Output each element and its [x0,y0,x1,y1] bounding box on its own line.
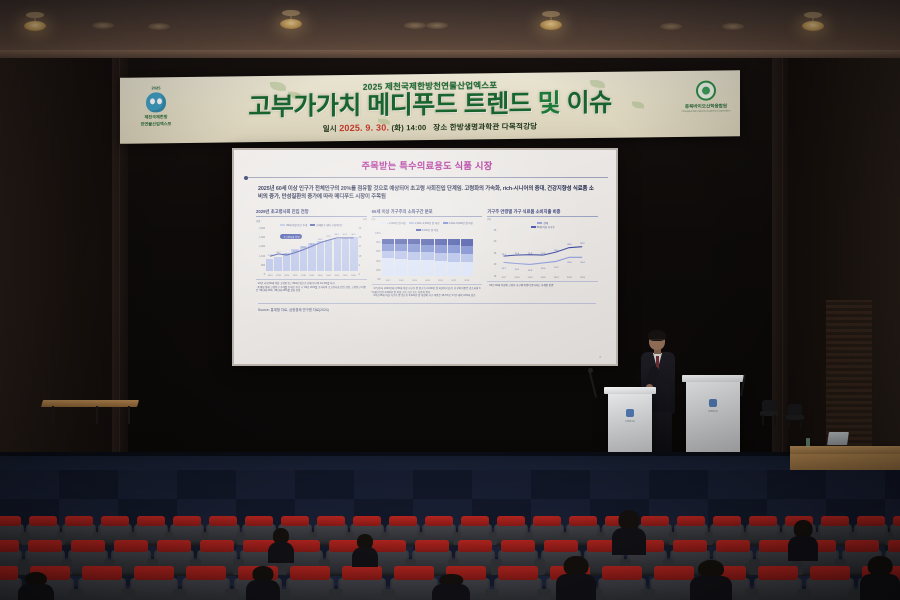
chart-2-ylabel: (%) [372,219,376,221]
banner-title-part1: 고부가가치 메디푸드 트렌드 [248,90,531,121]
x-tick: 2022 [447,280,460,282]
bar-segment [408,244,420,251]
recessed-light [404,22,426,29]
chart-2-note-1: '23년 65세 이상 가구주 중 연소득 5,000만 원 이상의 가구 비중… [373,294,475,297]
bar-segment [382,251,394,258]
stacked-bar [382,239,394,276]
auditorium-seat [806,566,854,600]
audience-member [268,528,294,562]
y-tick: 1,100 [256,256,265,258]
bar-segment [382,244,394,251]
recessed-light [92,22,114,29]
audience-member [432,574,470,600]
bar-segment [448,239,460,246]
y-tick: 20% [372,270,381,272]
x-tick: 2018 [510,277,523,279]
stacked-bar [395,239,407,276]
auditorium-seat [390,566,438,600]
chart-3-yaxis: 35 30 25 20 15 [487,230,496,278]
auditorium-seat [338,566,386,600]
slide-body-text: 2025년 60세 이상 인구가 전체인구의 20%를 점유할 것으로 예상되어… [258,185,596,202]
recessed-light [148,23,170,30]
chart-3-legend-1: 65세 이상 가구주 [537,226,555,229]
recessed-light [426,22,448,29]
place-value: 한방생명과학관 다목적강당 [450,122,537,132]
audience-member [246,566,280,600]
chart-2-yaxis: 100% 80% 60% 40% 20% 0% [372,233,381,281]
x-tick: 2020 [283,275,291,277]
x-tick: 2022 [563,277,576,279]
x-tick: 2030 [299,275,307,277]
y-tick: 100% [372,233,381,235]
y-tick: 40% [372,261,381,263]
y-tick: 30 [487,241,496,243]
chart-2-plot: 100% 80% 60% 40% 20% 0% 2017201820192020… [372,233,483,281]
operator-desk [790,446,900,454]
stage-chair [786,404,804,428]
bar-segment [461,254,473,262]
pendant-light [22,12,48,34]
chart-1-note-0: '24년 국내 60세 이상 고령인구는 994만 명으로 전체 인구의 19.… [258,282,335,285]
x-tick: 2015 [274,275,282,277]
chart-2-xaxis: 2017201820192020202120222023 [382,280,474,282]
left-wall-panel [0,58,120,458]
y2-tick: 27 [359,246,367,248]
x-tick: 2025 [291,275,299,277]
bar-segment [461,246,473,255]
chart-3-lines [497,232,589,273]
slide-title-rule [246,177,608,178]
date-value: 2025. 9. 30. [339,122,389,133]
bar-segment [395,259,407,276]
x-tick: 2023 [576,277,589,279]
y-tick: 25 [487,253,496,255]
bar-segment [408,252,420,260]
wall-pillar [772,58,788,458]
pendant-light [538,11,564,33]
y-tick: 0% [372,279,381,281]
stacked-bar [408,239,420,276]
y-tick: 80% [372,242,381,244]
chart-3-notes: · '23년 65세 이상의 고령자 가구의 비중이 증가하는 추세인 반면 [487,281,598,288]
day-of-week: (화) [391,123,404,132]
bar-segment [435,245,447,253]
chart-1-xaxis: 2010201520202025203020352040204520502055… [266,275,358,277]
y2-tick: 0 [359,274,367,276]
bar-segment [461,262,473,276]
chart-1-y2label: (%) [363,219,367,223]
chart-3-xaxis: 2017201820192020202120222023 [497,277,589,279]
y2-tick: 18 [359,256,367,258]
x-tick: 2055 [341,275,349,277]
x-tick: 2023 [460,280,473,282]
event-banner: 2025 제천국제한방 천연물산업엑스포 2025 제천국제한방천연물산업엑스포… [120,70,740,144]
chart-2-legend-0: ~ 2,000만 원 미만 [387,222,406,225]
bar-segment [448,245,460,253]
bar-segment [461,239,473,246]
chart-1-note-1: 통계청 장래 고령인구 추계를 토대로 추산 시 '29년 20%를 초과하여 … [256,286,366,293]
auditorium-scene: 2025 제천국제한방 천연물산업엑스포 2025 제천국제한방천연물산업엑스포… [0,0,900,600]
sponsor-emblem-icon [696,81,716,101]
banner-title-part2: 및 [538,89,561,117]
place-label: 장소 [433,123,447,132]
banner-title-part3: 이슈 [567,89,612,118]
auditorium-seat [286,566,334,600]
auditorium-seat [754,566,802,600]
laptop[interactable] [827,432,849,445]
y-tick: 1,000 [256,246,265,248]
chart-2-note-0: '17년부터 2023년까지 65세 이상 가구주 중 연소득 2,000만 원… [372,287,481,294]
bar-segment [408,260,420,276]
bar-segment [382,258,394,276]
x-tick: 2021 [550,277,563,279]
pendant-light [800,12,826,34]
chart-2-legend-3: 5,000만 원 이상 [422,229,439,232]
chart-1-annotation: 초고령사회 진입 [280,234,302,239]
bar-segment [421,260,433,276]
projection-screen: 주목받는 특수의료용도 식품 시장 2025년 60세 이상 인구가 전체인구의… [232,148,618,366]
y2-tick: 36 [359,237,367,239]
chart-3-plot: 35 30 25 20 15 [487,230,598,278]
y2-tick: 45 [359,228,367,230]
y-tick: 600 [256,265,265,267]
bar-segment [421,245,433,253]
stage-chair [760,400,778,424]
auditorium-seat [598,566,646,600]
slide-source: Source: 통계청 자료, 삼정경제 연구원 자료(2024) [258,303,596,312]
y-tick: 2,000 [256,228,265,230]
chart-1-ylabel: 만명 [256,219,260,223]
x-tick: 2017 [382,280,395,282]
stacked-bar [435,239,447,276]
bar-segment [435,261,447,276]
x-tick: 2045 [324,275,332,277]
bar-segment [448,253,460,261]
chart-1-notes: · '24년 국내 60세 이상 고령인구는 994만 명으로 전체 인구의 1… [256,279,367,293]
y-tick: 15 [487,276,496,278]
chart-1-legend: 60세 이상 인구 추계 전체인구 대비 구성비(우) [256,223,367,227]
pendant-light [278,10,304,32]
x-tick: 2021 [434,280,447,282]
y-tick: 0 [256,274,265,276]
chart-3-legend: 전체 65세 이상 가구주 [487,221,598,229]
lectern-right-logo-text: CBBIA [708,409,718,413]
chart-1-legend-0: 60세 이상 인구 추계 [286,224,307,227]
folding-table [42,400,138,422]
x-tick: 2010 [266,275,274,277]
lectern-left-logo-text: CBBIA [625,419,635,423]
chart-1-plot: 2,000 1,400 1,000 1,100 600 0 45 36 27 [256,228,367,276]
chart-3-note-0: '23년 65세 이상의 고령자 가구의 비중이 증가하는 추세인 반면 [489,284,554,287]
slide-title: 주목받는 특수의료용도 식품 시장 [244,158,610,172]
stacked-bar [421,239,433,276]
y2-tick: 9 [359,265,367,267]
chart-3-ylabel: (%) [487,219,491,221]
x-tick: 2017 [497,277,510,279]
y-tick: 35 [487,230,496,232]
y-tick: 20 [487,264,496,266]
audience-member [18,572,54,600]
chart-2-notes: · '17년부터 2023년까지 65세 이상 가구주 중 연소득 2,000만… [372,284,483,298]
slide-page-number: 8 [599,355,601,359]
event-time: 14:00 [406,123,426,132]
recessed-light [722,23,744,30]
y-tick: 60% [372,251,381,253]
auditorium-seat [494,566,542,600]
chart-2-legend-1: 2,000~3,000만 원 미만 [415,222,440,225]
chart-1-legend-1: 전체인구 대비 구성비(우) [316,224,342,227]
x-tick: 2060 [349,275,357,277]
chart-aging-population: 2029년 초고령사회 진입 전망 만명 (%) 60세 이상 인구 추계 전체… [256,209,367,298]
audience-member [556,556,596,600]
audience-member [612,510,646,554]
x-tick: 2035 [308,275,316,277]
slide-charts: 2029년 초고령사회 진입 전망 만명 (%) 60세 이상 인구 추계 전체… [256,209,598,298]
y-tick: 1,400 [256,237,265,239]
stacked-bar [461,239,473,276]
chart-2-legend: ~ 2,000만 원 미만 2,000~3,000만 원 미만 3,000~5,… [372,221,483,232]
chart-income-distribution: 65세 이상 가구주의 소득구간 분포 (%) ~ 2,000만 원 미만 2,… [372,209,483,298]
x-tick: 2019 [408,280,421,282]
x-tick: 2020 [421,280,434,282]
banner-detail-line: 일시 2025. 9. 30. (화) 14:00 장소 한방생명과학관 다목적… [126,118,734,136]
glasses-icon [650,339,664,342]
x-tick: 2040 [316,275,324,277]
audience-member [860,556,900,600]
microphone-icon [588,368,593,373]
sponsor-logo: 충북바이오산학융합원 Chungbuk Bio Industry-Academy… [680,80,732,125]
auditorium-seat [78,566,126,600]
stacked-bar [448,239,460,276]
x-tick: 2050 [333,275,341,277]
audience-member [690,560,732,600]
chart-2-stacked-bars [382,237,474,276]
x-tick: 2018 [395,280,408,282]
auditorium-seat [182,566,230,600]
chart-1-y2axis: 45 36 27 18 9 0 [359,228,367,276]
recessed-light [660,23,682,30]
chart-1-title: 2029년 초고령사회 진입 전망 [256,209,367,217]
chart-2-title: 65세 이상 가구주의 소득구간 분포 [372,209,483,217]
chart-2-legend-2: 3,000~5,000만 원 미만 [449,222,474,225]
sponsor-logo-sub: Chungbuk Bio Industry-Academy Cooperatio… [680,109,732,113]
auditorium-seat [130,566,178,600]
bar-segment [395,244,407,251]
bar-segment [448,262,460,276]
water-bottle [806,438,810,447]
bar-segment [435,253,447,261]
chart-food-spending: 가구주 연령별 가구 식료품 소비지출 비중 (%) 전체 65세 이상 가구주… [487,209,598,298]
presentation-slide: 주목받는 특수의료용도 식품 시장 2025년 60세 이상 인구가 전체인구의… [244,156,610,362]
audience-member [352,534,378,566]
x-tick: 2020 [537,277,550,279]
bar-segment [421,252,433,260]
x-tick: 2019 [524,277,537,279]
audience-member [788,520,818,560]
chart-3-title: 가구주 연령별 가구 식료품 소비지출 비중 [487,209,598,217]
chart-1-yaxis: 2,000 1,400 1,000 1,100 600 0 [256,228,265,276]
bar-segment [395,251,407,259]
date-label: 일시 [323,124,337,133]
